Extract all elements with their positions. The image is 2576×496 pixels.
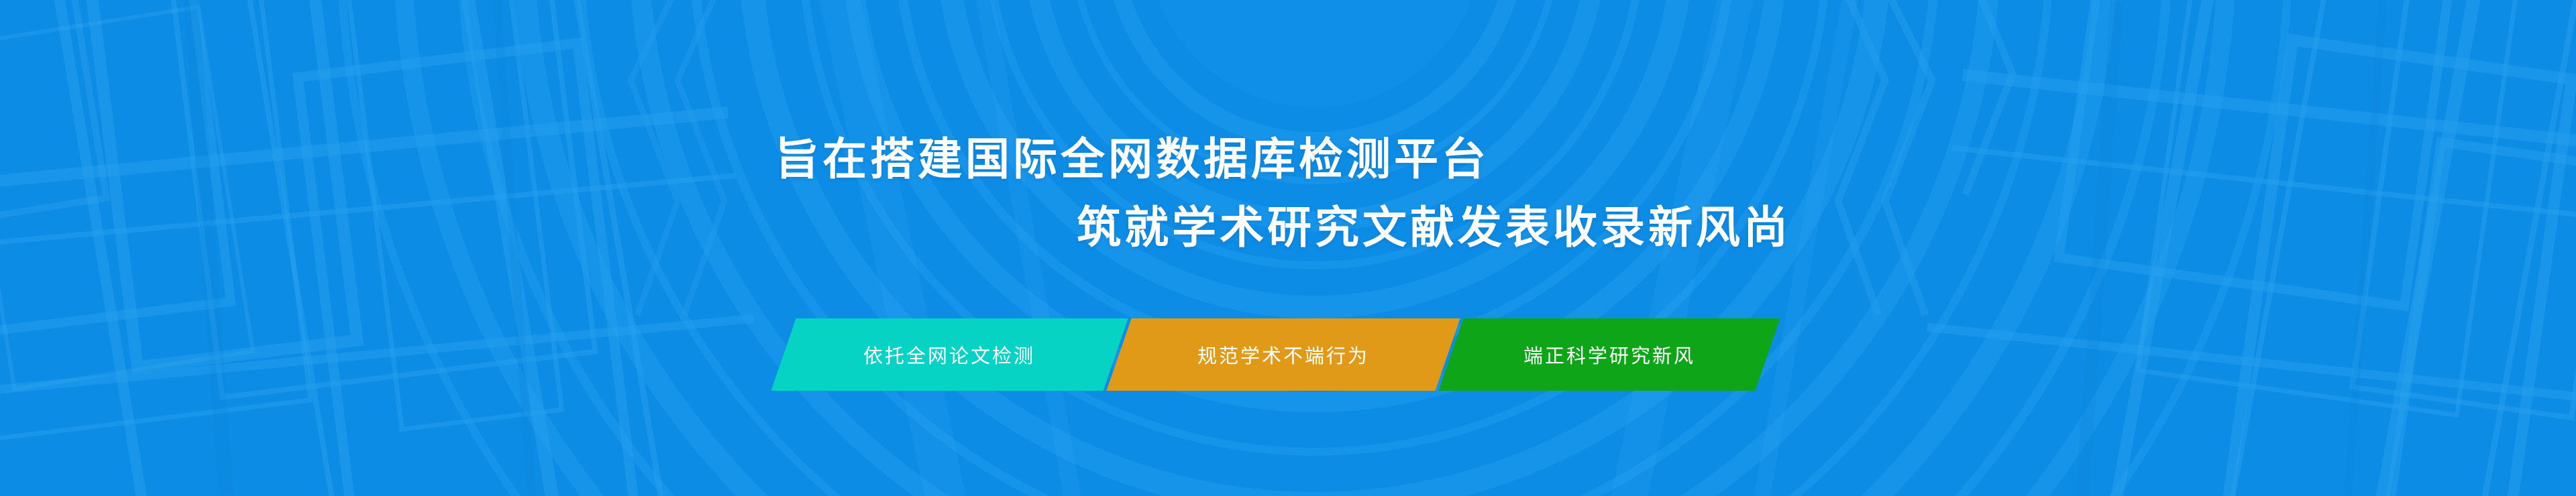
headline-block: 旨在搭建国际全网数据库检测平台 筑就学术研究文献发表收录新风尚 [0,125,2576,261]
feature-tag-label: 依托全网论文检测 [863,340,1035,369]
feature-tag-plagiarism-detection[interactable]: 依托全网论文检测 [771,318,1128,391]
feature-tag-strip: 依托全网论文检测 规范学术不端行为 端正科学研究新风 [784,318,1768,391]
headline-line-2: 筑就学术研究文献发表收录新风尚 [1077,193,2576,261]
headline-line-1: 旨在搭建国际全网数据库检测平台 [775,125,2576,193]
feature-tag-label: 端正科学研究新风 [1523,340,1695,369]
promo-banner: 旨在搭建国际全网数据库检测平台 筑就学术研究文献发表收录新风尚 依托全网论文检测… [0,0,2576,496]
feature-tag-label: 规范学术不端行为 [1197,340,1369,369]
feature-tag-academic-misconduct[interactable]: 规范学术不端行为 [1106,318,1460,391]
feature-tag-research-ethics[interactable]: 端正科学研究新风 [1438,318,1780,391]
